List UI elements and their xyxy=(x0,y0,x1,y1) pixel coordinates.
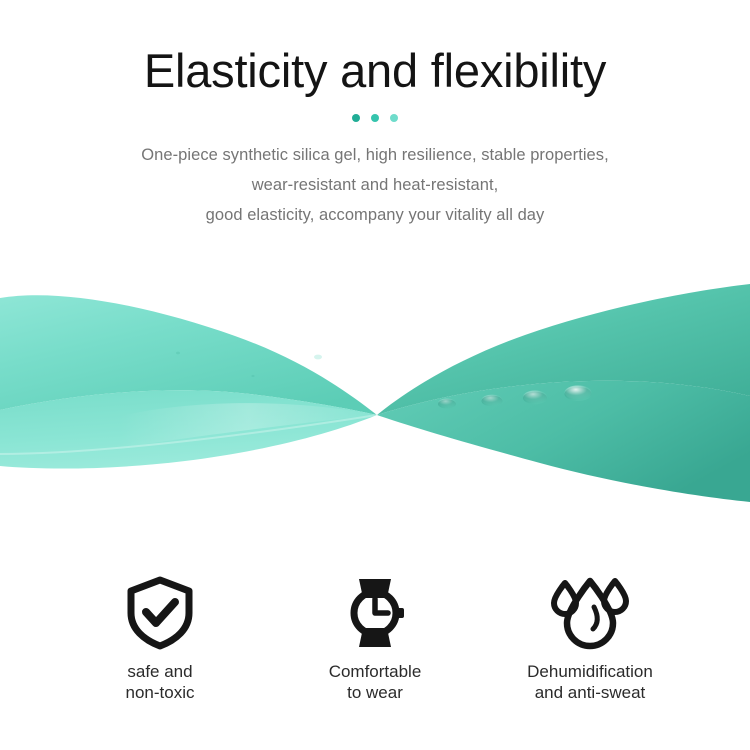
description-line-1: One-piece synthetic silica gel, high res… xyxy=(0,140,750,170)
feature-item-comfortable-to-wear: Comfortable to wear xyxy=(268,575,483,703)
feature-label-comfortable-to-wear: Comfortable to wear xyxy=(329,661,422,703)
dot-1 xyxy=(352,114,360,122)
description: One-piece synthetic silica gel, high res… xyxy=(0,123,750,230)
product-image xyxy=(0,258,750,533)
strap-hole-2 xyxy=(482,395,503,407)
wristwatch-icon xyxy=(339,575,411,651)
strap-hole-1 xyxy=(438,398,456,408)
feature-item-dehumidification: Dehumidification and anti-sweat xyxy=(483,575,698,703)
feature-item-safe-non-toxic: safe and non-toxic xyxy=(53,575,268,703)
description-line-2: wear-resistant and heat-resistant, xyxy=(0,170,750,200)
wristwatch-icon-svg xyxy=(339,575,411,651)
strap-hole-4 xyxy=(565,385,592,401)
dot-2 xyxy=(371,114,379,122)
feature-list: safe and non-toxic Comfortable to we xyxy=(0,575,750,703)
shield-check-icon xyxy=(124,575,196,651)
dot-3 xyxy=(390,114,398,122)
shield-check-icon-svg xyxy=(124,575,196,651)
dot-separator xyxy=(0,113,750,123)
feature-label-safe-non-toxic: safe and non-toxic xyxy=(126,661,195,703)
feature-label-dehumidification: Dehumidification and anti-sweat xyxy=(527,661,653,703)
page-title: Elasticity and flexibility xyxy=(0,0,750,99)
water-droplets-icon xyxy=(547,575,633,651)
infographic-page: Elasticity and flexibility One-piece syn… xyxy=(0,0,750,750)
description-line-3: good elasticity, accompany your vitality… xyxy=(0,200,750,230)
twisted-band-illustration xyxy=(0,258,750,533)
header: Elasticity and flexibility One-piece syn… xyxy=(0,0,750,230)
water-droplets-icon-svg xyxy=(547,575,633,651)
strap-hole-3 xyxy=(523,390,547,404)
